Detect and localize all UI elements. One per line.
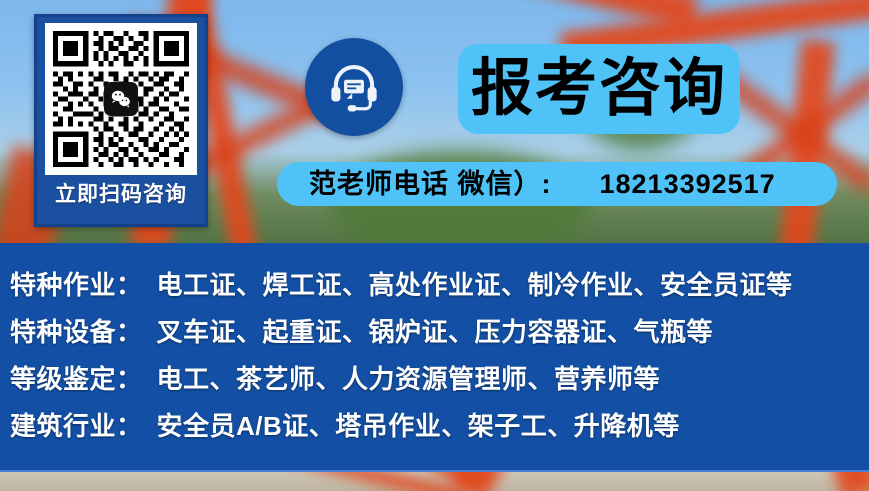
category-items: 电工、茶艺师、人力资源管理师、营养师等 — [157, 364, 661, 394]
category-label: 特种作业： — [10, 270, 143, 300]
qr-code-image[interactable] — [45, 23, 197, 175]
qr-card-caption: 立即扫码咨询 — [55, 184, 187, 205]
course-categories-panel: 特种作业：电工证、焊工证、高处作业证、制冷作业、安全员证等 特种设备：叉车证、起… — [0, 243, 869, 472]
category-row-grade-assessment: 等级鉴定：电工、茶艺师、人力资源管理师、营养师等 — [10, 366, 660, 392]
headset-support-icon — [305, 38, 403, 136]
category-row-special-equipment: 特种设备：叉车证、起重证、锅炉证、压力容器证、气瓶等 — [10, 319, 713, 345]
contact-phone-number[interactable]: 18213392517 — [600, 171, 776, 198]
contact-label: 范老师电话 微信）: — [309, 171, 552, 198]
page-title: 报考咨询 — [458, 44, 740, 134]
category-items: 叉车证、起重证、锅炉证、压力容器证、气瓶等 — [157, 317, 714, 347]
contact-bar[interactable]: 范老师电话 微信）: 18213392517 — [277, 162, 837, 206]
category-items: 电工证、焊工证、高处作业证、制冷作业、安全员证等 — [157, 270, 793, 300]
category-label: 等级鉴定： — [10, 364, 143, 394]
category-label: 建筑行业： — [10, 411, 143, 441]
promotional-poster: 立即扫码咨询 报考咨询 范老师电话 微信）: 18213392517 特种作业：… — [0, 0, 869, 491]
category-label: 特种设备： — [10, 317, 143, 347]
category-items: 安全员A/B证、塔吊作业、架子工、升降机等 — [157, 411, 680, 441]
category-row-construction-industry: 建筑行业：安全员A/B证、塔吊作业、架子工、升降机等 — [10, 413, 680, 439]
qr-code-card[interactable]: 立即扫码咨询 — [34, 14, 208, 227]
page-title-text: 报考咨询 — [471, 58, 727, 120]
wechat-icon — [104, 82, 138, 116]
category-row-special-operations: 特种作业：电工证、焊工证、高处作业证、制冷作业、安全员证等 — [10, 272, 793, 298]
